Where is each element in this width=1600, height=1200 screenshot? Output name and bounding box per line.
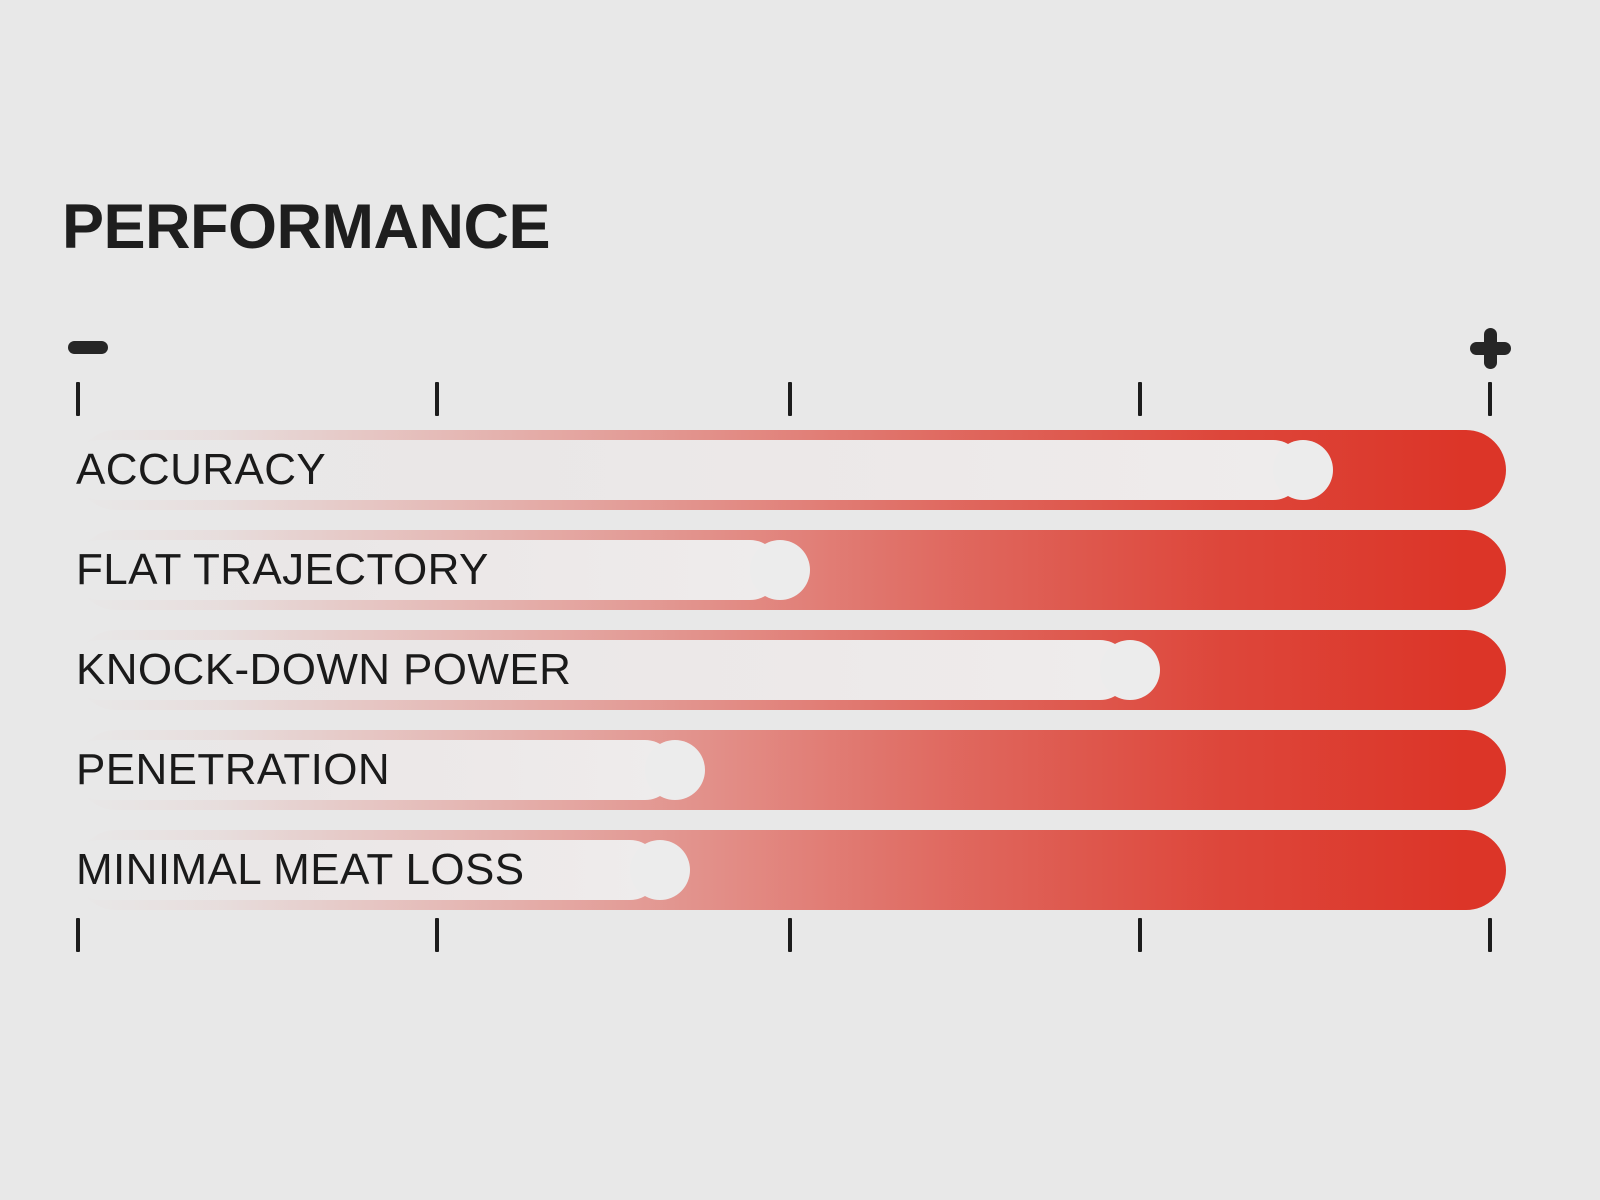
- scale-tick: [435, 382, 439, 416]
- minus-icon: [68, 341, 108, 354]
- scale-tick: [788, 918, 792, 952]
- scale-tick: [1138, 382, 1142, 416]
- bar-value-knob[interactable]: [630, 840, 690, 900]
- bar-value-knob[interactable]: [645, 740, 705, 800]
- scale-ticks-top: [0, 382, 1600, 416]
- scale-tick: [76, 382, 80, 416]
- bar-value-knob[interactable]: [1100, 640, 1160, 700]
- bar-value-knob[interactable]: [1273, 440, 1333, 500]
- performance-bar-row: FLAT TRAJECTORY: [76, 530, 1506, 610]
- scale-tick: [788, 382, 792, 416]
- bar-label: MINIMAL MEAT LOSS: [76, 830, 525, 910]
- scale-tick: [1488, 918, 1492, 952]
- bar-value-knob[interactable]: [750, 540, 810, 600]
- performance-bar-row: MINIMAL MEAT LOSS: [76, 830, 1506, 910]
- scale-tick: [1488, 382, 1492, 416]
- scale-tick: [1138, 918, 1142, 952]
- bar-label: KNOCK-DOWN POWER: [76, 630, 571, 710]
- bar-label: FLAT TRAJECTORY: [76, 530, 489, 610]
- bar-label: ACCURACY: [76, 430, 326, 510]
- plus-icon: [1470, 328, 1511, 369]
- performance-bar-row: KNOCK-DOWN POWER: [76, 630, 1506, 710]
- plus-icon-vertical: [1484, 328, 1497, 369]
- performance-infographic: PERFORMANCE ACCURACYFLAT TRAJECTORYKNOCK…: [0, 0, 1600, 1200]
- scale-tick: [76, 918, 80, 952]
- performance-bar-row: ACCURACY: [76, 430, 1506, 510]
- scale-tick: [435, 918, 439, 952]
- performance-bar-row: PENETRATION: [76, 730, 1506, 810]
- bar-label: PENETRATION: [76, 730, 390, 810]
- page-title: PERFORMANCE: [62, 196, 550, 259]
- scale-ticks-bottom: [0, 918, 1600, 952]
